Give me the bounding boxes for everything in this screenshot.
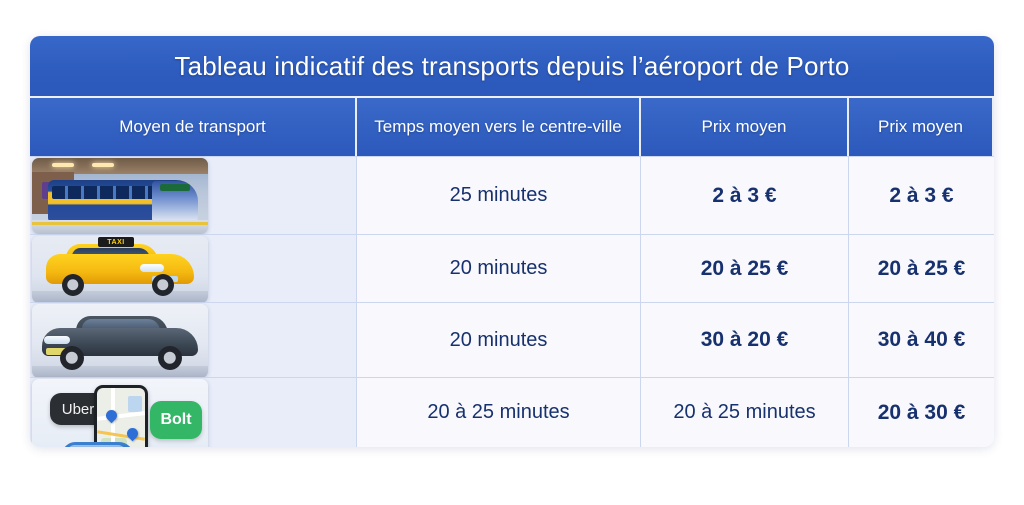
travel-time-value: 20 minutes bbox=[357, 234, 641, 302]
metro-tram-image bbox=[32, 158, 208, 234]
table-title-bar: Tableau indicatif des transports depuis … bbox=[30, 36, 994, 98]
map-pin-icon bbox=[104, 408, 120, 424]
price-value-2: 20 à 25 € bbox=[849, 234, 994, 302]
taxi-roof-sign-icon: TAXI bbox=[98, 237, 134, 247]
column-header-price-2: Prix moyen bbox=[849, 98, 994, 156]
price-value-1: 20 à 25 minutes bbox=[641, 377, 849, 447]
private-sedan-image bbox=[32, 304, 208, 378]
metro-destination-display bbox=[160, 184, 190, 191]
travel-time-value: 20 minutes bbox=[357, 302, 641, 377]
wheel-icon bbox=[62, 274, 84, 296]
map-water-shape bbox=[128, 396, 142, 412]
rideshare-apps-image: Uber Bolt bbox=[32, 379, 208, 447]
metro-ceiling-light-icon bbox=[92, 163, 114, 167]
wheel-icon bbox=[60, 346, 84, 370]
table-row-mode-cell: Transport privé bbox=[30, 302, 357, 377]
bolt-logo-icon: Bolt bbox=[150, 401, 202, 439]
map-road-shape bbox=[97, 411, 145, 421]
price-value-2: 2 à 3 € bbox=[849, 156, 994, 234]
rideshare-car-image bbox=[34, 435, 160, 447]
sedan-headlight-icon bbox=[44, 336, 70, 344]
taxi-sign-label: TAXI bbox=[107, 239, 124, 246]
taxi-headlight-icon bbox=[140, 264, 164, 272]
table-row-mode-cell: Uber Bolt bbox=[30, 377, 357, 447]
wheel-icon bbox=[152, 274, 174, 296]
metro-windows-shape bbox=[52, 186, 164, 199]
metro-ceiling-light-icon bbox=[52, 163, 74, 167]
travel-time-value: 20 à 25 minutes bbox=[357, 377, 641, 447]
wheel-icon bbox=[158, 346, 182, 370]
column-header-mode: Moyen de transport bbox=[30, 98, 357, 156]
price-value-2: 30 à 40 € bbox=[849, 302, 994, 377]
transport-table-grid: Moyen de transport Temps moyen vers le c… bbox=[30, 98, 994, 447]
metro-platform-stripe bbox=[32, 222, 208, 225]
column-header-time: Temps moyen vers le centre-ville bbox=[357, 98, 641, 156]
car-window-shape bbox=[67, 445, 127, 447]
page-title: Tableau indicatif des transports depuis … bbox=[174, 51, 849, 82]
uber-logo-label: Uber bbox=[62, 401, 95, 418]
price-value-1: 30 à 20 € bbox=[641, 302, 849, 377]
table-row-mode-cell: TAXI Taxi bbox=[30, 234, 357, 302]
price-value-1: 2 à 3 € bbox=[641, 156, 849, 234]
travel-time-value: 25 minutes bbox=[357, 156, 641, 234]
bolt-logo-label: Bolt bbox=[160, 411, 191, 429]
transport-table-card: Tableau indicatif des transports depuis … bbox=[30, 36, 994, 447]
price-value-2: 20 à 30 € bbox=[849, 377, 994, 447]
price-value-1: 20 à 25 € bbox=[641, 234, 849, 302]
table-row-mode-cell: Mètro ligne E bbox=[30, 156, 357, 234]
column-header-price-1: Prix moyen bbox=[641, 98, 849, 156]
yellow-taxi-image: TAXI bbox=[32, 236, 208, 303]
